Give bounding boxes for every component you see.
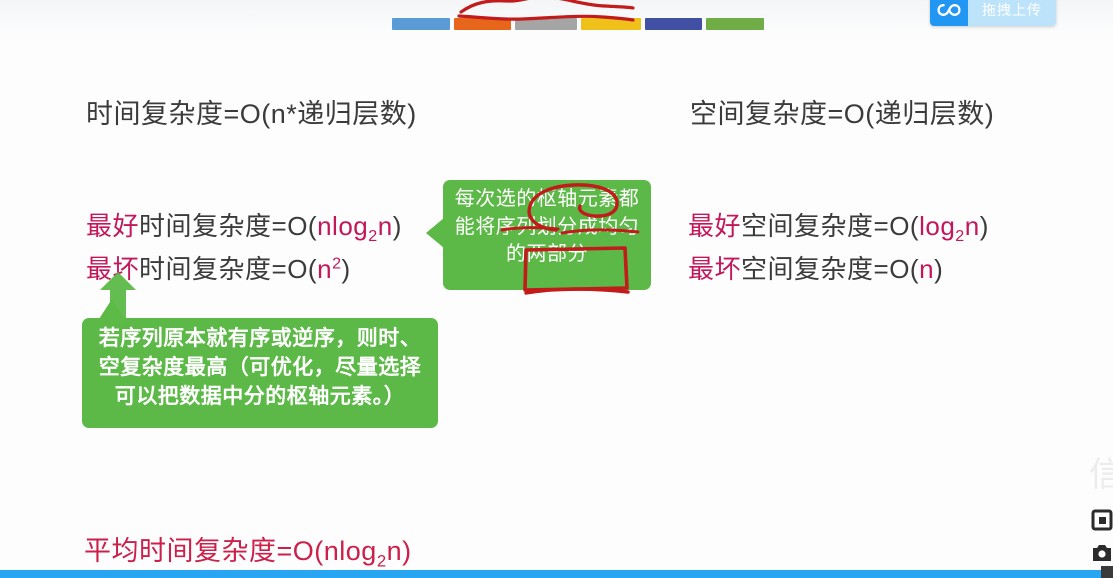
worst-time-expr: n2	[317, 254, 341, 284]
best-time-middle: 时间复杂度=O(	[139, 211, 317, 241]
best-time-suffix: )	[393, 211, 402, 241]
video-progress-bar[interactable]	[0, 570, 1113, 578]
video-progress-fill[interactable]	[0, 570, 1102, 578]
worst-space-middle: 空间复杂度=O(	[741, 254, 919, 284]
segment-blue	[392, 18, 450, 30]
callout-ordered-tail	[99, 299, 125, 319]
average-time-sub: 2	[377, 551, 387, 570]
best-time-expr-tail: n	[378, 211, 393, 241]
worst-time-suffix: )	[342, 254, 351, 284]
bottom-right-corner-marker	[1101, 566, 1113, 578]
best-time-expr-sub: 2	[368, 227, 377, 245]
worst-space-expr: n	[919, 254, 934, 284]
callout-pivot-split: 每次选的枢轴元素都能将序列划分成均匀的两部分	[443, 180, 651, 290]
best-time-expr: nlog2n	[317, 211, 393, 241]
worst-time-expr-sup: 2	[332, 254, 341, 272]
camera-icon[interactable]	[1089, 538, 1113, 568]
best-space-complexity: 最好空间复杂度=O(log2n)	[688, 206, 989, 246]
best-time-expr-main: nlog	[317, 211, 368, 241]
worst-space-prefix: 最坏	[688, 254, 741, 284]
callout-pivot-text: 每次选的枢轴元素都能将序列划分成均匀的两部分	[455, 188, 640, 265]
segment-orange	[454, 18, 510, 30]
callout-ordered-text: 若序列原本就有序或逆序，则时、空复杂度最高（可优化，尽量选择可以把数据中分的枢轴…	[99, 327, 422, 408]
edge-icon-stack[interactable]	[1089, 505, 1113, 568]
best-space-suffix: )	[980, 211, 989, 241]
screenshot-icon[interactable]	[1089, 505, 1113, 535]
worst-space-complexity: 最坏空间复杂度=O(n)	[688, 249, 943, 286]
best-space-prefix: 最好	[688, 211, 741, 241]
average-time-tail: n)	[387, 536, 412, 566]
callout-pivot-tail	[426, 218, 444, 248]
drag-upload-label[interactable]: 拖拽上传	[968, 0, 1056, 26]
segment-gray	[515, 18, 577, 30]
worst-time-expr-main: n	[317, 254, 332, 284]
segment-green	[706, 18, 764, 30]
drag-upload-button[interactable]: 拖拽上传	[930, 0, 1056, 26]
space-complexity-formula: 空间复杂度=O(递归层数)	[690, 92, 994, 131]
worst-space-suffix: )	[934, 254, 943, 284]
average-time-main: 平均时间复杂度=O(nlog	[84, 536, 377, 566]
best-space-expr-sub: 2	[955, 227, 964, 245]
infinity-loop-icon[interactable]	[930, 0, 968, 26]
worst-time-middle: 时间复杂度=O(	[139, 254, 317, 284]
callout-ordered-sequence: 若序列原本就有序或逆序，则时、空复杂度最高（可优化，尽量选择可以把数据中分的枢轴…	[82, 318, 438, 428]
best-space-expr: log2n	[919, 211, 980, 241]
best-space-expr-main: log	[919, 211, 955, 241]
time-complexity-formula: 时间复杂度=O(n*递归层数)	[86, 92, 417, 131]
best-space-middle: 空间复杂度=O(	[741, 211, 919, 241]
color-segment-strip	[392, 18, 764, 30]
worst-time-prefix: 最坏	[86, 254, 139, 284]
video-slide-frame: 拖拽上传 时间复杂度=O(n*递归层数) 空间复杂度=O(递归层数) 最好时间复…	[0, 0, 1113, 578]
segment-yellow	[581, 18, 641, 30]
best-time-complexity: 最好时间复杂度=O(nlog2n)	[86, 206, 402, 246]
best-time-prefix: 最好	[86, 211, 139, 241]
corner-watermark-glyph: 信	[1089, 452, 1113, 498]
segment-indigo	[645, 18, 701, 30]
worst-time-complexity: 最坏时间复杂度=O(n2)	[86, 249, 351, 286]
best-space-expr-tail: n	[965, 211, 980, 241]
average-time-complexity: 平均时间复杂度=O(nlog2n)	[84, 529, 412, 571]
